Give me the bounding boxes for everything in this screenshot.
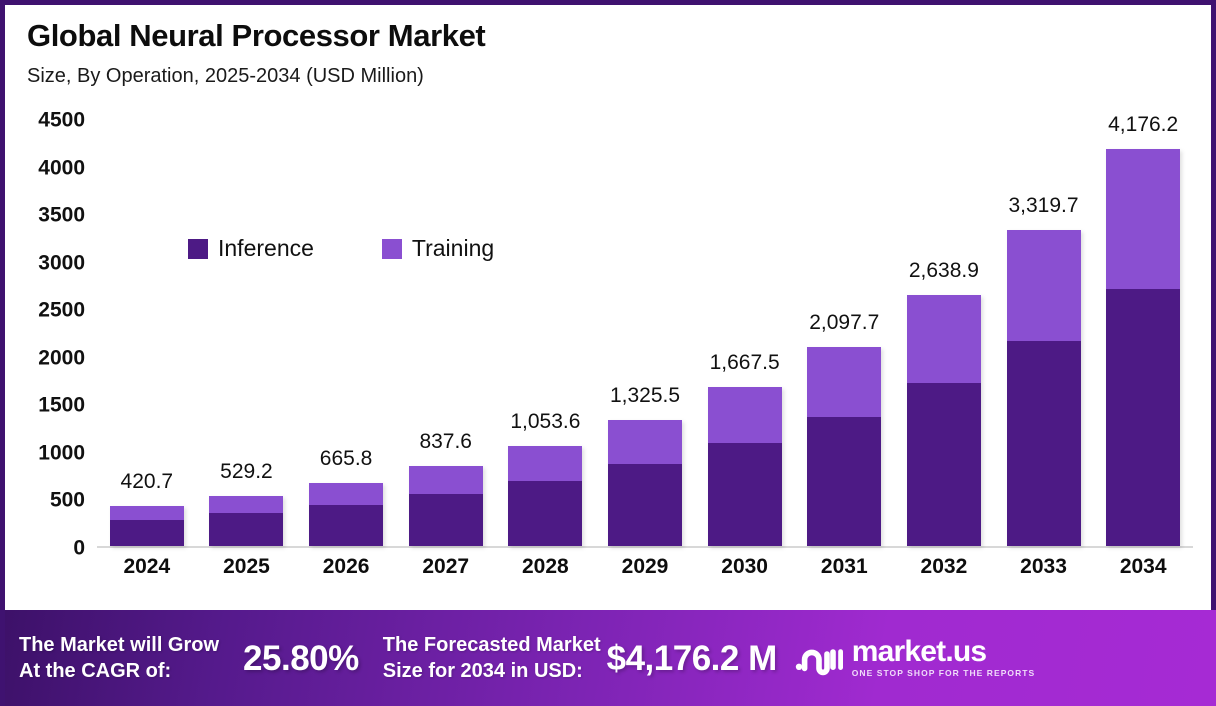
y-axis-tick: 3000 — [38, 252, 85, 273]
stacked-bar[interactable] — [309, 483, 383, 546]
bar-segment-inference[interactable] — [807, 417, 881, 546]
legend-item[interactable]: Inference — [188, 237, 314, 260]
x-axis-tick: 2024 — [123, 556, 170, 577]
forecast-value: $4,176.2 M — [607, 641, 777, 676]
bar-value-label: 2,638.9 — [909, 260, 979, 281]
bar-segment-inference[interactable] — [708, 443, 782, 546]
x-axis-tick: 2027 — [422, 556, 469, 577]
market-us-logo[interactable]: market.us ONE STOP SHOP FOR THE REPORTS — [795, 637, 1035, 679]
forecast-block: The Forecasted Market Size for 2034 in U… — [383, 632, 777, 684]
stacked-bar[interactable] — [708, 387, 782, 546]
bar-segment-training[interactable] — [409, 466, 483, 494]
x-axis-tick: 2029 — [622, 556, 669, 577]
bar-segment-inference[interactable] — [608, 464, 682, 546]
bar-segment-inference[interactable] — [409, 494, 483, 546]
y-axis-tick: 4000 — [38, 157, 85, 178]
bar-segment-training[interactable] — [110, 506, 184, 520]
bar-group[interactable]: 1,667.5 — [708, 120, 782, 546]
logo-tagline: ONE STOP SHOP FOR THE REPORTS — [852, 667, 1035, 679]
market-us-logo-text: market.us ONE STOP SHOP FOR THE REPORTS — [852, 637, 1035, 679]
bar-segment-inference[interactable] — [309, 505, 383, 546]
bar-value-label: 837.6 — [419, 431, 472, 452]
bar-segment-training[interactable] — [209, 496, 283, 514]
bar-group[interactable]: 837.6 — [409, 120, 483, 546]
bar-segment-inference[interactable] — [1007, 341, 1081, 546]
bar-segment-inference[interactable] — [1106, 289, 1180, 546]
market-us-logo-mark — [795, 638, 843, 678]
legend-item[interactable]: Training — [382, 237, 494, 260]
page-title: Global Neural Processor Market — [27, 15, 485, 57]
bar-group[interactable]: 2,638.9 — [907, 120, 981, 546]
x-axis-tick: 2025 — [223, 556, 270, 577]
stacked-bar[interactable] — [508, 446, 582, 546]
x-axis-tick: 2031 — [821, 556, 868, 577]
chart-plot-area: 450040003500300025002000150010005000 420… — [5, 120, 1211, 600]
bar-group[interactable]: 3,319.7 — [1007, 120, 1081, 546]
cagr-value: 25.80% — [243, 641, 359, 676]
chart-header: Global Neural Processor Market Size, By … — [27, 15, 485, 91]
bar-value-label: 1,667.5 — [710, 352, 780, 373]
y-axis-tick: 0 — [73, 538, 85, 559]
bar-group[interactable]: 420.7 — [110, 120, 184, 546]
stacked-bar[interactable] — [209, 496, 283, 546]
stacked-bar[interactable] — [608, 420, 682, 546]
y-axis-tick: 500 — [50, 490, 85, 511]
bar-segment-training[interactable] — [608, 420, 682, 464]
x-axis-tick: 2030 — [721, 556, 768, 577]
y-axis-tick: 1000 — [38, 442, 85, 463]
x-axis-tick: 2026 — [323, 556, 370, 577]
bar-group[interactable]: 665.8 — [309, 120, 383, 546]
x-axis-tick: 2034 — [1120, 556, 1167, 577]
bar-value-label: 3,319.7 — [1008, 195, 1078, 216]
bar-value-label: 1,325.5 — [610, 385, 680, 406]
bar-segment-training[interactable] — [907, 295, 981, 383]
chart-infographic: Global Neural Processor Market Size, By … — [0, 0, 1216, 706]
bar-value-label: 529.2 — [220, 461, 273, 482]
bar-segment-training[interactable] — [309, 483, 383, 505]
y-axis-tick: 3500 — [38, 205, 85, 226]
bar-group[interactable]: 529.2 — [209, 120, 283, 546]
bar-segment-inference[interactable] — [508, 481, 582, 546]
y-axis: 450040003500300025002000150010005000 — [5, 120, 85, 548]
cagr-block: The Market will Grow At the CAGR of: 25.… — [19, 632, 359, 684]
y-axis-tick: 4500 — [38, 110, 85, 131]
bar-segment-inference[interactable] — [209, 513, 283, 546]
stacked-bar[interactable] — [1007, 230, 1081, 546]
bar-segment-training[interactable] — [1007, 230, 1081, 341]
bar-segment-training[interactable] — [508, 446, 582, 481]
bar-segment-training[interactable] — [807, 347, 881, 417]
bar-segment-inference[interactable] — [907, 383, 981, 546]
legend-label: Inference — [218, 237, 314, 260]
stacked-bar[interactable] — [1106, 149, 1180, 546]
bars-area: 420.7529.2665.8837.61,053.61,325.51,667.… — [97, 120, 1193, 548]
y-axis-tick: 1500 — [38, 395, 85, 416]
cagr-caption-line1: The Market will Grow — [19, 632, 219, 658]
cagr-caption: The Market will Grow At the CAGR of: — [19, 632, 219, 684]
bar-group[interactable]: 4,176.2 — [1106, 120, 1180, 546]
stacked-bar[interactable] — [110, 506, 184, 546]
chart-subtitle: Size, By Operation, 2025-2034 (USD Milli… — [27, 61, 485, 91]
logo-name: market.us — [852, 637, 1035, 667]
x-axis: 2024202520262027202820292030203120322033… — [97, 556, 1193, 596]
stacked-bar[interactable] — [907, 295, 981, 546]
square-swatch-icon — [188, 239, 208, 259]
bar-group[interactable]: 2,097.7 — [807, 120, 881, 546]
footer-banner: The Market will Grow At the CAGR of: 25.… — [5, 610, 1216, 706]
bar-value-label: 420.7 — [121, 471, 174, 492]
chart-legend: InferenceTraining — [188, 237, 494, 260]
y-axis-tick: 2000 — [38, 347, 85, 368]
stacked-bar[interactable] — [409, 466, 483, 546]
forecast-caption-line1: The Forecasted Market — [383, 632, 601, 658]
bar-segment-training[interactable] — [1106, 149, 1180, 289]
stacked-bar[interactable] — [807, 347, 881, 547]
x-axis-tick: 2032 — [921, 556, 968, 577]
bar-group[interactable]: 1,325.5 — [608, 120, 682, 546]
y-axis-tick: 2500 — [38, 300, 85, 321]
cagr-caption-line2: At the CAGR of: — [19, 658, 219, 684]
bar-segment-training[interactable] — [708, 387, 782, 443]
x-axis-tick: 2028 — [522, 556, 569, 577]
bar-value-label: 665.8 — [320, 448, 373, 469]
legend-label: Training — [412, 237, 494, 260]
bar-segment-inference[interactable] — [110, 520, 184, 546]
square-swatch-icon — [382, 239, 402, 259]
bar-group[interactable]: 1,053.6 — [508, 120, 582, 546]
bar-value-label: 4,176.2 — [1108, 114, 1178, 135]
forecast-caption: The Forecasted Market Size for 2034 in U… — [383, 632, 601, 684]
x-axis-tick: 2033 — [1020, 556, 1067, 577]
bar-value-label: 1,053.6 — [510, 411, 580, 432]
forecast-caption-line2: Size for 2034 in USD: — [383, 658, 601, 684]
bar-value-label: 2,097.7 — [809, 312, 879, 333]
